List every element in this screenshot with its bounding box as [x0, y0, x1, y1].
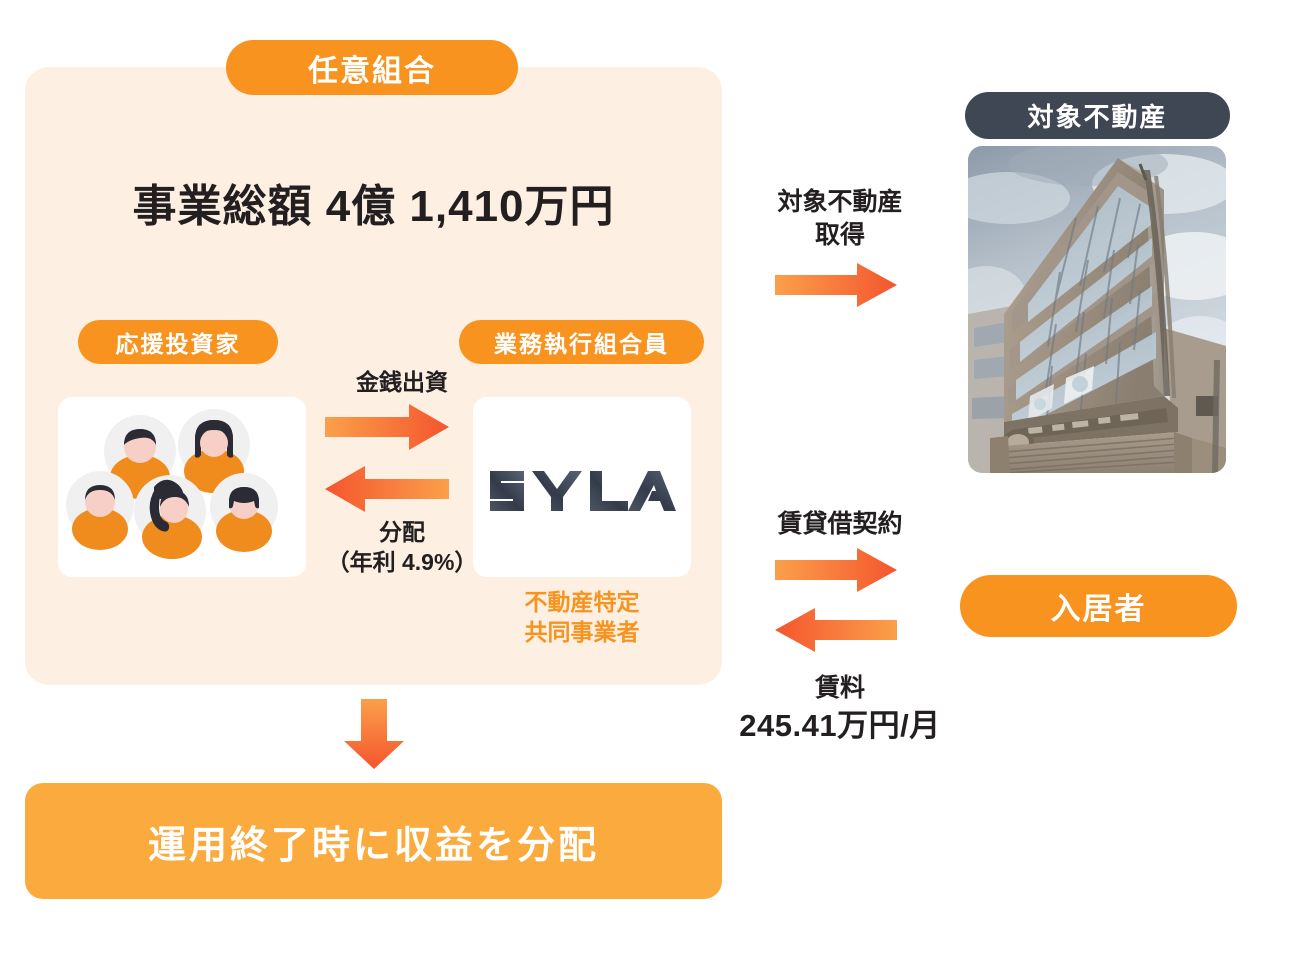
- arrow-right-acquire-icon: [775, 263, 897, 307]
- building-photo-illustration: [968, 146, 1226, 473]
- arrow-left-distribution-icon: [325, 466, 449, 512]
- payout-banner: 運用終了時に収益を分配: [25, 783, 722, 899]
- rent-label: 賃料: [715, 672, 965, 705]
- syla-logo: [473, 397, 691, 577]
- property-badge: 対象不動産: [965, 92, 1230, 139]
- lease-contract-label: 賃貸借契約: [740, 508, 940, 541]
- arrow-down-payout-icon: [344, 699, 404, 769]
- investor-badge: 応援投資家: [78, 320, 278, 364]
- total-amount-heading: 事業総額 4億 1,410万円: [25, 170, 722, 234]
- executor-card: [473, 397, 691, 577]
- provider-caption-line2: 共同事業者: [473, 618, 691, 648]
- arrow-right-capital-icon: [325, 404, 449, 450]
- distribution-label: 分配 （年利 4.9%）: [302, 518, 502, 578]
- tenant-badge: 入居者: [960, 575, 1237, 637]
- executor-badge: 業務執行組合員: [459, 320, 704, 364]
- partnership-badge: 任意組合: [226, 40, 518, 95]
- investor-card: [58, 397, 306, 577]
- provider-caption-line1: 不動産特定: [473, 588, 691, 618]
- provider-caption: 不動産特定 共同事業者: [473, 588, 691, 648]
- capital-contribution-label: 金銭出資: [312, 368, 492, 398]
- acquire-label-line1: 対象不動産: [745, 186, 935, 219]
- arrow-right-lease-icon: [775, 548, 897, 592]
- acquire-label-line2: 取得: [745, 219, 935, 252]
- diagram-canvas: 任意組合 事業総額 4億 1,410万円 応援投資家 業務執行組合員: [0, 0, 1296, 972]
- people-group-icon: [58, 397, 306, 577]
- arrow-left-rent-icon: [775, 608, 897, 652]
- distribution-label-line1: 分配: [302, 518, 502, 548]
- distribution-label-line2: （年利 4.9%）: [302, 548, 502, 578]
- building-exterior-photo: [968, 146, 1226, 473]
- rent-value: 245.41万円/月: [715, 706, 965, 746]
- acquire-property-label: 対象不動産 取得: [745, 186, 935, 251]
- syla-wordmark-icon: [488, 459, 676, 515]
